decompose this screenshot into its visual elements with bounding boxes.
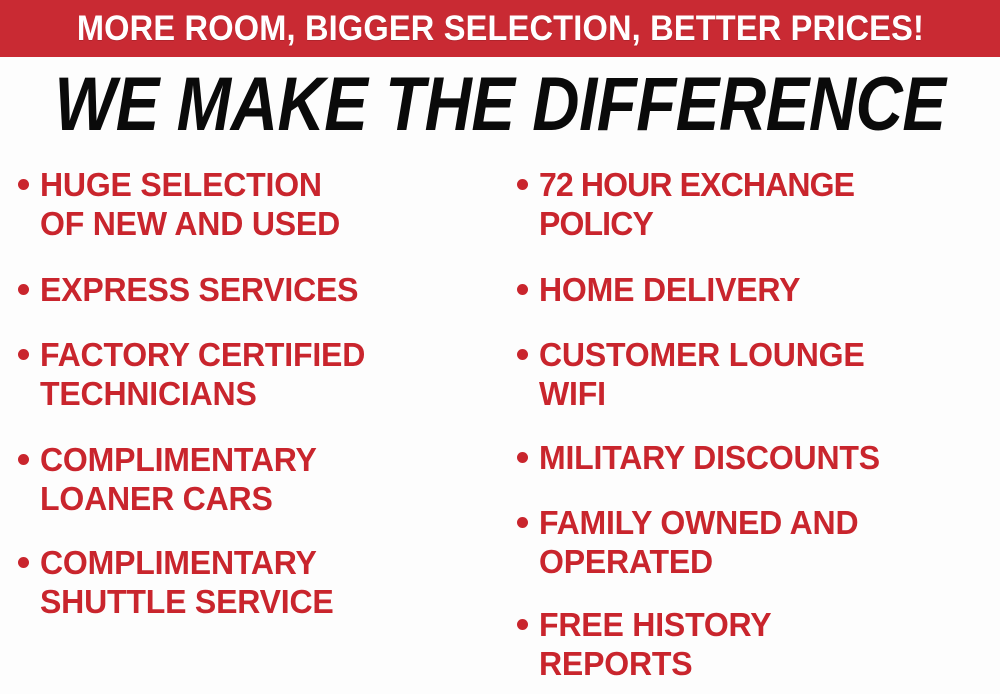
dot-bullet-icon: [18, 557, 29, 568]
list-item: COMPLIMENTARY LOANER CARS: [18, 440, 325, 518]
banner-headline-text: MORE ROOM, BIGGER SELECTION, BETTER PRIC…: [76, 11, 923, 47]
list-item: HUGE SELECTION OF NEW AND USED: [18, 165, 349, 243]
list-item: 72 HOUR EXCHANGE POLICY: [517, 165, 864, 243]
list-item: FAMILY OWNED AND OPERATED: [517, 503, 868, 581]
list-item-label: COMPLIMENTARY LOANER CARS: [40, 440, 317, 518]
list-item-label: FACTORY CERTIFIED TECHNICIANS: [40, 335, 365, 413]
benefits-column-left: HUGE SELECTION OF NEW AND USED EXPRESS S…: [8, 155, 500, 694]
dot-bullet-icon: [18, 284, 29, 295]
list-item: COMPLIMENTARY SHUTTLE SERVICE: [18, 543, 343, 621]
dot-bullet-icon: [18, 349, 29, 360]
dot-bullet-icon: [517, 179, 528, 190]
dot-bullet-icon: [517, 452, 528, 463]
list-item-label: FAMILY OWNED AND OPERATED: [539, 503, 858, 581]
list-item-label: CUSTOMER LOUNGE WIFI: [539, 335, 865, 413]
list-item-label: MILITARY DISCOUNTS: [539, 438, 880, 477]
page-title: WE MAKE THE DIFFERENCE: [54, 65, 945, 145]
list-item: EXPRESS SERVICES: [18, 270, 368, 309]
top-banner: MORE ROOM, BIGGER SELECTION, BETTER PRIC…: [0, 0, 1000, 57]
list-item: FACTORY CERTIFIED TECHNICIANS: [18, 335, 375, 413]
promo-poster: MORE ROOM, BIGGER SELECTION, BETTER PRIC…: [0, 0, 1000, 694]
list-item-label: 72 HOUR EXCHANGE POLICY: [539, 165, 854, 243]
dot-bullet-icon: [517, 284, 528, 295]
dot-bullet-icon: [517, 349, 528, 360]
list-item: CUSTOMER LOUNGE WIFI: [517, 335, 875, 413]
list-item: MILITARY DISCOUNTS: [517, 438, 890, 477]
list-item: HOME DELIVERY: [517, 270, 808, 309]
list-item-label: HOME DELIVERY: [539, 270, 800, 309]
dot-bullet-icon: [18, 454, 29, 465]
list-item-label: EXPRESS SERVICES: [40, 270, 358, 309]
list-item-label: COMPLIMENTARY SHUTTLE SERVICE: [40, 543, 334, 621]
dot-bullet-icon: [517, 619, 528, 630]
list-item: FREE HISTORY REPORTS: [517, 605, 779, 683]
headline-container: WE MAKE THE DIFFERENCE: [0, 61, 1000, 149]
list-item-label: HUGE SELECTION OF NEW AND USED: [40, 165, 340, 243]
benefits-column-right: 72 HOUR EXCHANGE POLICY HOME DELIVERY CU…: [505, 155, 1000, 694]
dot-bullet-icon: [517, 517, 528, 528]
list-item-label: FREE HISTORY REPORTS: [539, 605, 771, 683]
benefits-columns: HUGE SELECTION OF NEW AND USED EXPRESS S…: [0, 155, 1000, 694]
dot-bullet-icon: [18, 179, 29, 190]
